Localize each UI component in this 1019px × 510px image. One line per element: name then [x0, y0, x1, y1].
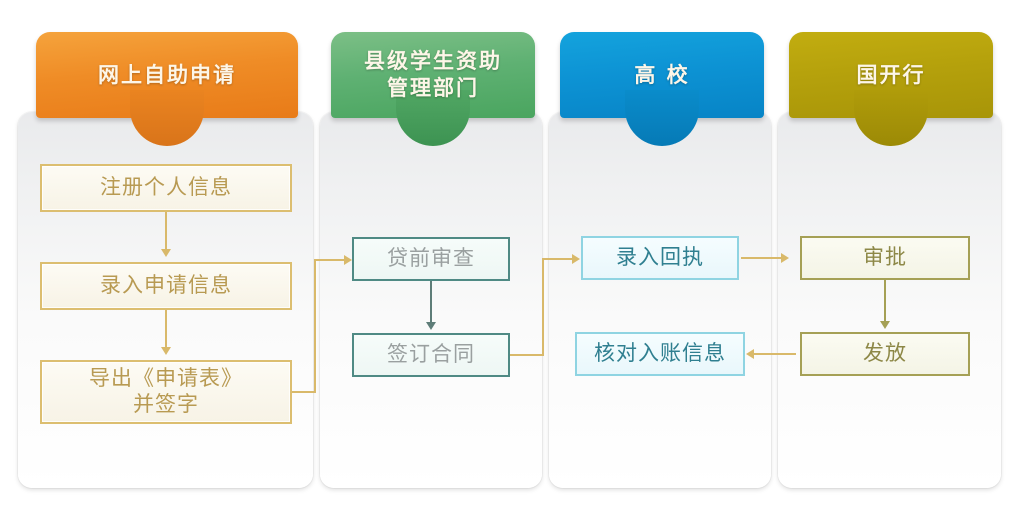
arrow-down-icon [161, 249, 171, 257]
column-panel-university [549, 112, 771, 488]
connector-disbursement-to-verify [754, 353, 796, 355]
column-header-cdb-bank[interactable]: 国开行 [789, 32, 993, 118]
step-box-enter-application-info[interactable]: 录入申请信息 [40, 262, 292, 310]
connector-export-to-preloan-seg1 [292, 391, 316, 393]
step-box-pre-loan-review[interactable]: 贷前审查 [352, 237, 510, 281]
connector-approval-to-disbursement [884, 280, 886, 322]
step-box-export-application-form-and-sign[interactable]: 导出《申请表》 并签字 [40, 360, 292, 424]
column-header-university[interactable]: 高 校 [560, 32, 764, 118]
column-panel-cdb-bank [778, 112, 1001, 488]
arrow-down-icon [161, 347, 171, 355]
step-box-verify-deposit-info[interactable]: 核对入账信息 [575, 332, 745, 376]
arrow-down-icon [426, 322, 436, 330]
flowchart-canvas: 网上自助申请 县级学生资助 管理部门 高 校 国开行 注册个人信息 录入申请信息… [0, 0, 1019, 510]
column-header-label: 高 校 [628, 62, 695, 89]
arrow-right-icon [781, 253, 789, 263]
column-header-label: 县级学生资助 管理部门 [358, 48, 508, 102]
step-box-disbursement[interactable]: 发放 [800, 332, 970, 376]
connector-export-to-preloan-seg3 [314, 259, 346, 261]
column-header-online-application[interactable]: 网上自助申请 [36, 32, 298, 118]
connector-export-to-preloan-seg2 [314, 259, 316, 393]
connector-register-to-apply [165, 212, 167, 250]
arrow-right-icon [572, 254, 580, 264]
step-box-approval[interactable]: 审批 [800, 236, 970, 280]
arrow-right-icon [344, 255, 352, 265]
connector-contract-to-receipt-seg3 [542, 258, 574, 260]
connector-contract-to-receipt-seg2 [542, 258, 544, 356]
column-header-label: 国开行 [851, 62, 932, 89]
step-box-enter-receipt[interactable]: 录入回执 [581, 236, 739, 280]
connector-apply-to-export [165, 310, 167, 348]
arrow-left-icon [746, 349, 754, 359]
step-box-sign-contract[interactable]: 签订合同 [352, 333, 510, 377]
step-box-register-personal-info[interactable]: 注册个人信息 [40, 164, 292, 212]
arrow-down-icon [880, 321, 890, 329]
connector-contract-to-receipt-seg1 [510, 354, 544, 356]
column-header-label: 网上自助申请 [92, 62, 242, 89]
connector-receipt-to-approval [741, 257, 783, 259]
connector-preloan-to-contract [430, 281, 432, 323]
column-header-county-student-aid-dept[interactable]: 县级学生资助 管理部门 [331, 32, 535, 118]
